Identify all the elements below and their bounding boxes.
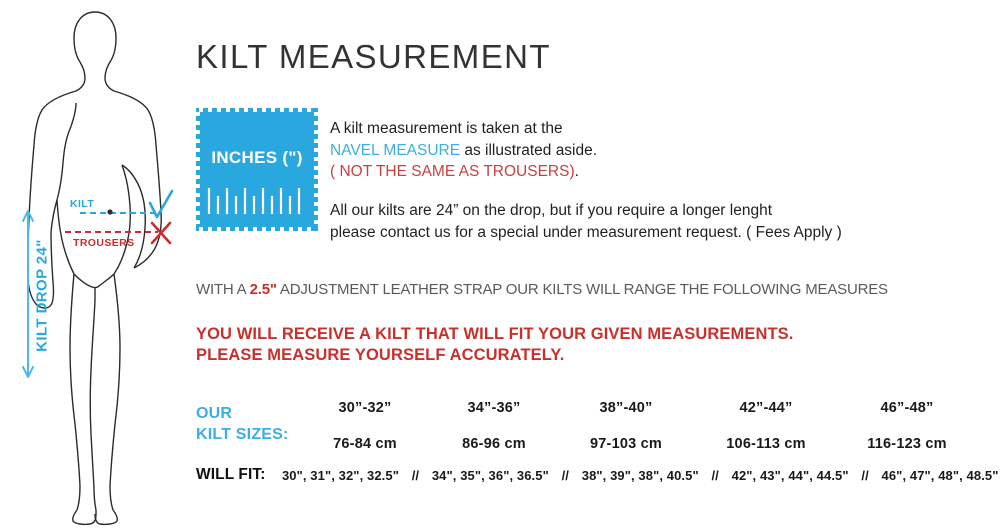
kilt-line-label: KILT — [70, 198, 94, 210]
will-fit-separator: // — [553, 468, 578, 483]
para2-line2: please contact us for a special under me… — [330, 224, 842, 241]
size-cm: 106-113 cm — [701, 436, 831, 452]
will-fit-values: 30", 31", 32", 32.5" // 34", 35", 36", 3… — [282, 466, 999, 483]
size-cm: 97-103 cm — [561, 436, 691, 452]
will-fit-label: WILL FIT: — [196, 466, 266, 484]
para1-line1: A kilt measurement is taken at the — [330, 120, 563, 137]
size-cm: 76-84 cm — [300, 436, 430, 452]
sizes-label-line1: OUR — [196, 405, 232, 422]
navel-measure-paragraph: A kilt measurement is taken at the NAVEL… — [330, 118, 760, 183]
body-figure-illustration: KILT DROP 24" KILT TROUSERS — [0, 0, 190, 531]
accuracy-warning: YOU WILL RECEIVE A KILT THAT WILL FIT YO… — [196, 324, 793, 366]
warning-line2: PLEASE MEASURE YOURSELF ACCURATELY. — [196, 346, 564, 364]
warning-line1: YOU WILL RECEIVE A KILT THAT WILL FIT YO… — [196, 325, 793, 343]
male-body-outline-svg — [0, 0, 190, 531]
strap-after: ADJUSTMENT LEATHER STRAP OUR KILTS WILL … — [277, 281, 888, 298]
size-column-4: 42”-44” 106-113 cm — [701, 400, 831, 452]
not-same-as-trousers-highlight: ( NOT THE SAME AS TROUSERS) — [330, 163, 575, 180]
will-fit-group-3: 38", 39", 38", 40.5" — [582, 468, 699, 483]
will-fit-group-5: 46", 47", 48", 48.5" — [882, 468, 999, 483]
sizes-label-line2: KILT SIZES: — [196, 426, 289, 443]
size-cm: 86-96 cm — [429, 436, 559, 452]
tape-measure-graphic — [196, 108, 318, 231]
size-inches: 42”-44” — [701, 400, 831, 416]
our-kilt-sizes-label: OUR KILT SIZES: — [196, 403, 289, 445]
will-fit-group-2: 34", 35", 36", 36.5" — [432, 468, 549, 483]
will-fit-separator: // — [403, 468, 428, 483]
size-column-5: 46”-48” 116-123 cm — [842, 400, 972, 452]
trousers-line-label: TROUSERS — [73, 237, 135, 249]
para2-line1: All our kilts are 24” on the drop, but i… — [330, 202, 772, 219]
inches-label: INCHES (") — [196, 148, 318, 168]
size-column-3: 38”-40” 97-103 cm — [561, 400, 691, 452]
size-column-1: 30”-32” 76-84 cm — [300, 400, 430, 452]
size-inches: 46”-48” — [842, 400, 972, 416]
navel-point — [107, 209, 112, 214]
strap-highlight: 2.5" — [250, 281, 277, 298]
kilt-measurement-page: KILT DROP 24" KILT TROUSERS KILT MEASURE… — [0, 0, 1000, 531]
will-fit-separator: // — [702, 468, 727, 483]
kilt-drop-label: KILT DROP 24" — [34, 206, 51, 386]
inches-tape-box: INCHES (") — [196, 108, 318, 231]
will-fit-row: WILL FIT: 30", 31", 32", 32.5" // 34", 3… — [196, 466, 999, 484]
adjustment-strap-line: WITH A 2.5" ADJUSTMENT LEATHER STRAP OUR… — [196, 281, 888, 298]
kilt-drop-paragraph: All our kilts are 24” on the drop, but i… — [330, 200, 910, 243]
size-inches: 30”-32” — [300, 400, 430, 416]
size-inches: 38”-40” — [561, 400, 691, 416]
para1-line3-rest: . — [575, 163, 579, 180]
page-title: KILT MEASUREMENT — [196, 38, 551, 76]
size-cm: 116-123 cm — [842, 436, 972, 452]
strap-before: WITH A — [196, 281, 250, 298]
size-inches: 34”-36” — [429, 400, 559, 416]
size-column-2: 34”-36” 86-96 cm — [429, 400, 559, 452]
para1-line2-rest: as illustrated aside. — [460, 142, 597, 159]
navel-measure-highlight: NAVEL MEASURE — [330, 142, 460, 159]
will-fit-separator: // — [852, 468, 877, 483]
will-fit-group-4: 42", 43", 44", 44.5" — [732, 468, 849, 483]
will-fit-group-1: 30", 31", 32", 32.5" — [282, 468, 399, 483]
